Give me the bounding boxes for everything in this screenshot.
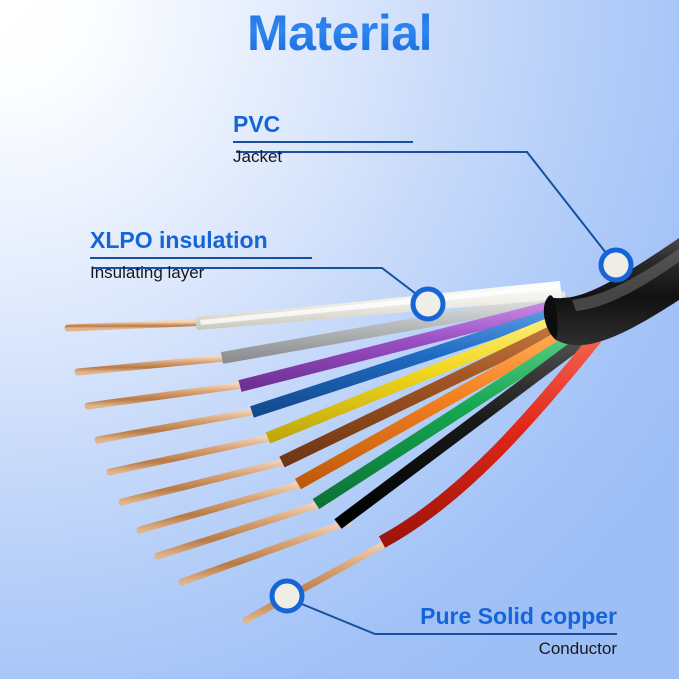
callout-pvc-rule	[233, 141, 413, 143]
copper-conductor-tips	[68, 322, 392, 620]
callout-xlpo-sub: Insulating layer	[90, 263, 312, 283]
callout-pvc-headline: PVC	[233, 112, 413, 138]
product-infographic: Material	[0, 0, 679, 679]
callout-pvc-sub: Jacket	[233, 147, 413, 167]
callout-xlpo: XLPO insulation Insulating layer	[90, 228, 312, 282]
wire-fan	[196, 292, 596, 542]
marker-copper-circle	[272, 581, 302, 611]
callout-copper-sub: Conductor	[385, 639, 617, 659]
callout-pvc: PVC Jacket	[233, 112, 413, 166]
marker-xlpo-circle	[413, 289, 443, 319]
callout-xlpo-headline: XLPO insulation	[90, 228, 312, 254]
cable-illustration	[0, 0, 679, 679]
callout-xlpo-rule	[90, 257, 312, 259]
marker-pvc-circle	[601, 250, 631, 280]
callout-copper-rule	[385, 633, 617, 635]
callout-copper-headline: Pure Solid copper	[385, 604, 617, 630]
callout-copper: Pure Solid copper Conductor	[385, 604, 617, 658]
